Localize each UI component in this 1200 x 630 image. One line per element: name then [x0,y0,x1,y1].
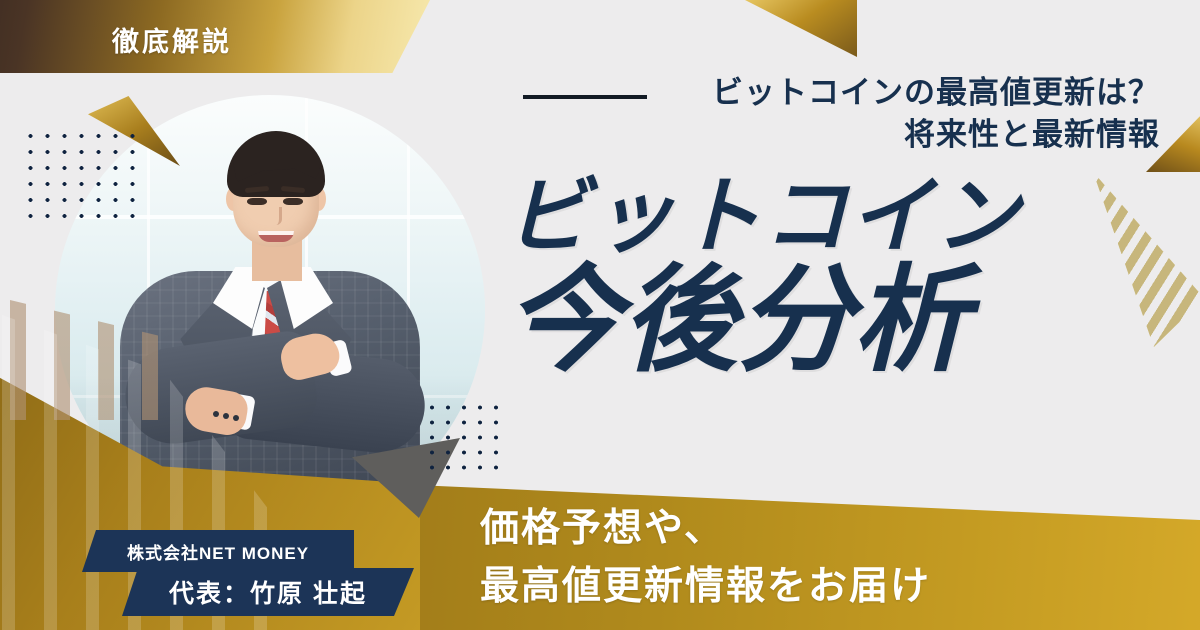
eye-right [283,198,303,205]
striped-triangle-grey-icon [1072,172,1200,347]
tagline-line-2: 最高値更新情報をお届け [480,558,931,616]
tagline-line-1: 価格予想や、 [480,500,931,558]
hero-banner: 徹底解説 ビットコインの最高値更新は？ 将来性と最新情報 ビットコイン 今後分析… [0,0,1200,630]
sleeve-button [223,413,229,419]
tagline: 価格予想や、 最高値更新情報をお届け [480,500,931,615]
company-tag: 株式会社NET MONEY [82,530,354,572]
hair [227,131,325,197]
dot-grid-center-icon [424,400,502,480]
title-line-1: ビットコイン [505,176,1021,257]
mouth [258,231,294,242]
subhead: ビットコインの最高値更新は？ 将来性と最新情報 [712,72,1160,157]
badge-label: 徹底解説 [112,20,232,59]
company-name: 株式会社NET MONEY [127,539,309,564]
page-title: ビットコイン 今後分析 [505,176,1021,376]
sleeve-button [233,415,239,421]
title-line-2: 今後分析 [505,265,1021,376]
subhead-line-1: ビットコインの最高値更新は？ [712,72,1160,114]
eye-left [247,198,267,205]
person-name: 代表：竹原 壮起 [169,574,367,610]
person-tag: 代表：竹原 壮起 [122,568,414,616]
nose [271,207,282,225]
dot-grid-left-icon [22,128,140,228]
sleeve-button [213,411,219,417]
subhead-rule [523,95,647,99]
triangle-gold-top-icon [745,0,857,57]
subhead-line-2: 将来性と最新情報 [712,114,1160,156]
